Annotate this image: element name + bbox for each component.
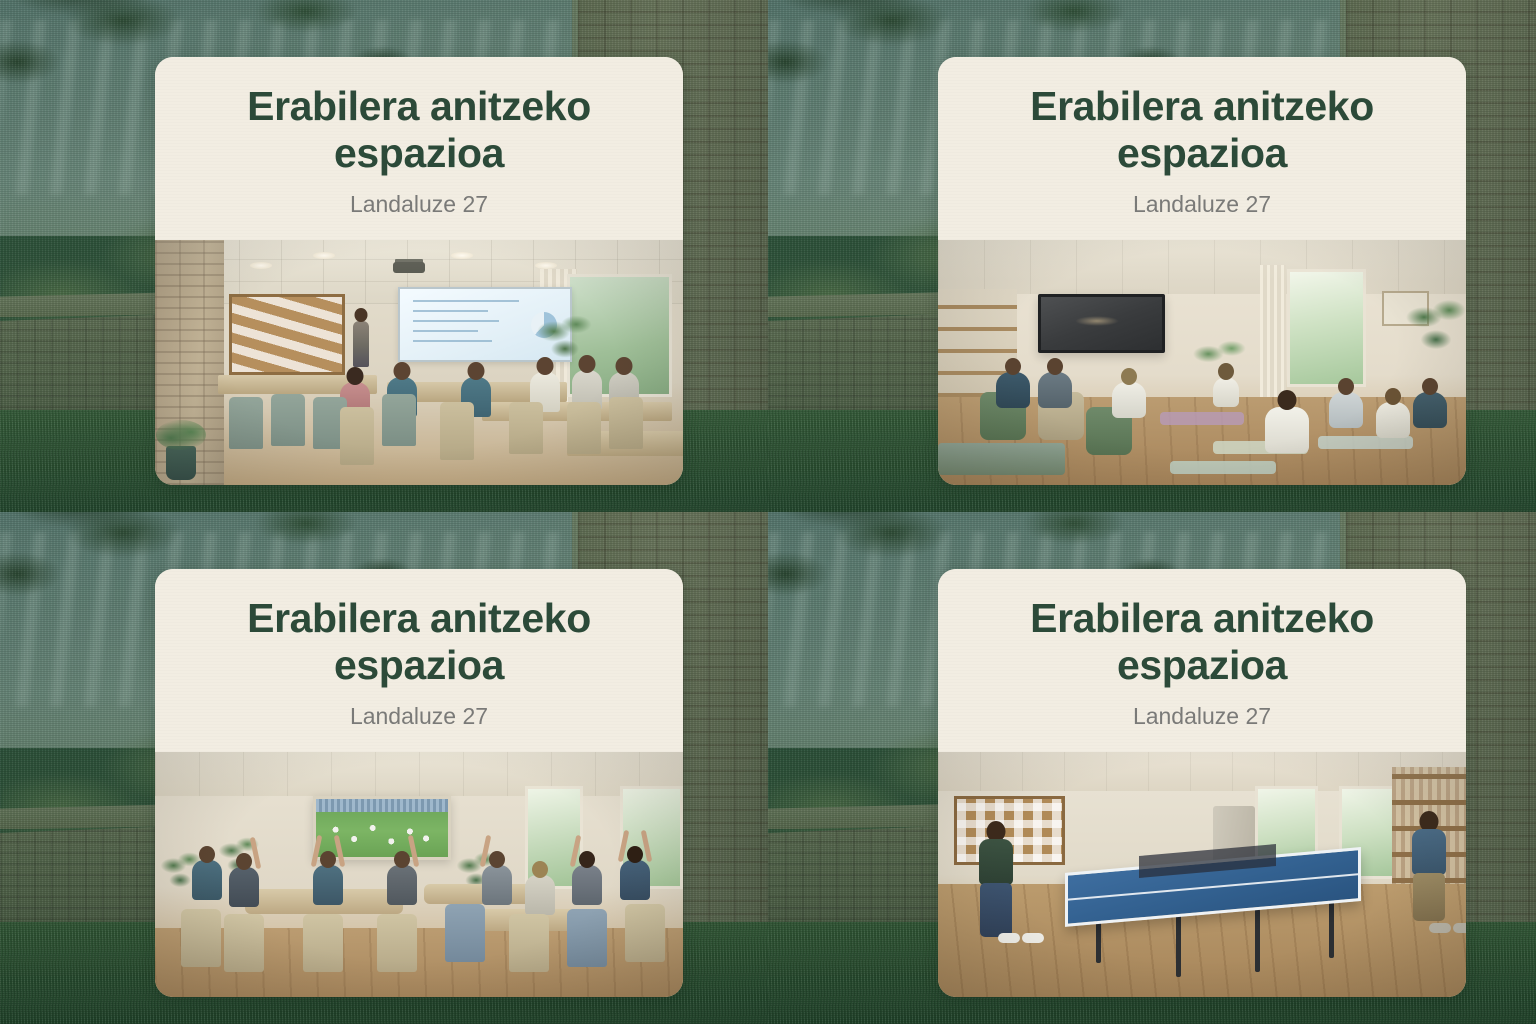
- card-cell: Erabilera anitzeko espazioa Landaluze 27: [768, 0, 1536, 512]
- card-subtitle: Landaluze 27: [1133, 190, 1271, 218]
- participant-figure: [996, 372, 1030, 408]
- window: [1287, 269, 1366, 387]
- bench: [938, 443, 1065, 475]
- participant-figure: [1413, 392, 1447, 428]
- card-title: Erabilera anitzeko espazioa: [219, 83, 619, 177]
- presenter-figure: [353, 321, 369, 367]
- yoga-session-photo: [938, 240, 1466, 485]
- participant-figure: [1038, 372, 1072, 408]
- projector-icon: [393, 262, 425, 273]
- venue-card[interactable]: Erabilera anitzeko espazioa Landaluze 27: [155, 569, 683, 997]
- spectator-figure: [482, 865, 512, 905]
- card-title: Erabilera anitzeko espazioa: [1002, 83, 1402, 177]
- card-cell: Erabilera anitzeko espazioa Landaluze 27: [0, 0, 768, 512]
- wall-screen: [313, 796, 450, 860]
- spectator-figure: [192, 860, 222, 900]
- participant-figure: [1376, 402, 1410, 438]
- card-header: Erabilera anitzeko espazioa Landaluze 27: [155, 569, 683, 752]
- card-subtitle: Landaluze 27: [350, 190, 488, 218]
- card-title: Erabilera anitzeko espazioa: [1002, 595, 1402, 689]
- spectator-figure: [572, 865, 602, 905]
- participant-figure: [1329, 392, 1363, 428]
- card-header: Erabilera anitzeko espazioa Landaluze 27: [155, 57, 683, 240]
- card-subtitle: Landaluze 27: [350, 702, 488, 730]
- spectator-figure: [387, 865, 417, 905]
- card-subtitle: Landaluze 27: [1133, 702, 1271, 730]
- table-tennis-photo: [938, 752, 1466, 997]
- venue-card[interactable]: Erabilera anitzeko espazioa Landaluze 27: [938, 569, 1466, 997]
- classroom-presentation-photo: [155, 240, 683, 485]
- participant-figure: [1265, 407, 1309, 453]
- venue-card[interactable]: Erabilera anitzeko espazioa Landaluze 27: [938, 57, 1466, 485]
- card-cell: Erabilera anitzeko espazioa Landaluze 27: [0, 512, 768, 1024]
- match-viewing-photo: [155, 752, 683, 997]
- participant-figure: [1112, 382, 1146, 418]
- card-header: Erabilera anitzeko espazioa Landaluze 27: [938, 569, 1466, 752]
- spectator-figure: [313, 865, 343, 905]
- instructor-figure: [1213, 377, 1239, 407]
- card-grid: Erabilera anitzeko espazioa Landaluze 27: [0, 0, 1536, 1024]
- wall-tv: [1038, 294, 1165, 353]
- card-header: Erabilera anitzeko espazioa Landaluze 27: [938, 57, 1466, 240]
- venue-card[interactable]: Erabilera anitzeko espazioa Landaluze 27: [155, 57, 683, 485]
- spectator-figure: [525, 875, 555, 915]
- spectator-figure: [229, 867, 259, 907]
- potted-plant: [166, 446, 196, 480]
- noticeboard: [229, 294, 345, 375]
- card-cell: Erabilera anitzeko espazioa Landaluze 27: [768, 512, 1536, 1024]
- spectator-figure: [620, 860, 650, 900]
- card-title: Erabilera anitzeko espazioa: [219, 595, 619, 689]
